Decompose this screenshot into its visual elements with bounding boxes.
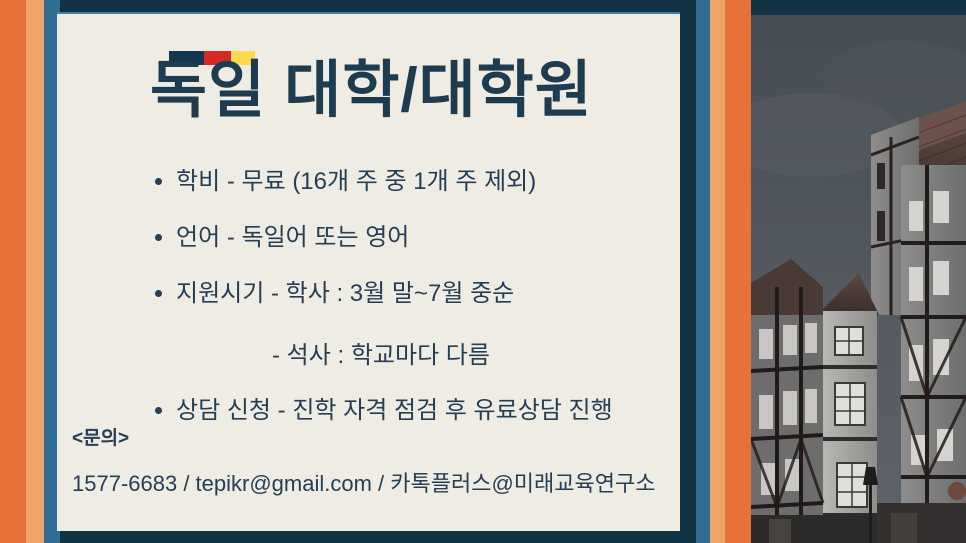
right-stripe-tan [710, 0, 725, 543]
slide-background: 독일 대학/대학원 학비 - 무료 (16개 주 중 1개 주 제외) 언어 -… [0, 0, 966, 543]
left-stripe-orange [0, 0, 26, 543]
card-top-rule [57, 12, 680, 14]
contact-label: <문의> [72, 423, 655, 450]
page-title: 독일 대학/대학원 [150, 58, 593, 123]
list-item: 지원시기 - 학사 : 3월 말~7월 중순 [155, 278, 655, 309]
right-stripe-orange [725, 0, 751, 543]
list-item-label: 지원시기 - 학사 : 3월 말~7월 중순 [176, 278, 514, 309]
contact-details: 1577-6683 / tepikr@gmail.com / 카톡플러스@미래교… [72, 466, 655, 498]
list-sub-item-label: - 석사 : 학교마다 다름 [272, 335, 655, 370]
german-half-timbered-houses-photo [751, 15, 966, 543]
photo-illustration [751, 15, 966, 543]
list-item-label: 학비 - 무료 (16개 주 중 1개 주 제외) [176, 166, 536, 197]
right-stripe-navy [680, 0, 696, 543]
bullet-dot-icon [155, 234, 162, 241]
right-stripe-blue [696, 0, 710, 543]
list-item: 학비 - 무료 (16개 주 중 1개 주 제외) [155, 166, 655, 197]
list-item-label: 언어 - 독일어 또는 영어 [176, 222, 409, 253]
list-item: 언어 - 독일어 또는 영어 [155, 222, 655, 253]
list-item-label: 상담 신청 - 진학 자격 점검 후 유료상담 진행 [176, 395, 613, 426]
left-stripe-tan [26, 0, 44, 543]
contact-block: <문의> 1577-6683 / tepikr@gmail.com / 카톡플러… [72, 423, 655, 498]
bullet-dot-icon [155, 290, 162, 297]
list-item: 상담 신청 - 진학 자격 점검 후 유료상담 진행 [155, 395, 655, 426]
bullet-dot-icon [155, 407, 162, 414]
bullet-dot-icon [155, 178, 162, 185]
bullet-list: 학비 - 무료 (16개 주 중 1개 주 제외) 언어 - 독일어 또는 영어… [155, 166, 655, 451]
